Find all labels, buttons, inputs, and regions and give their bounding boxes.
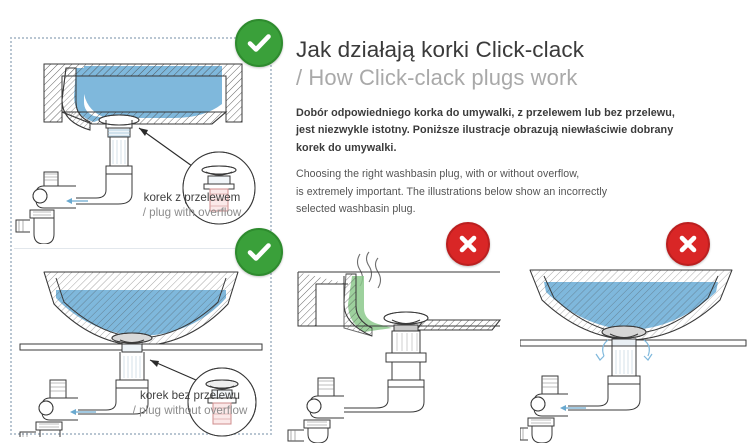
diagram-washbasin-with-overflow-wrong-plug <box>286 248 516 443</box>
cross-icon <box>676 232 700 256</box>
caption-plug-without-overflow: korek bez przelewu / plug without overfl… <box>104 389 276 419</box>
panel-divider <box>14 248 268 249</box>
diagram-vessel-basin-without-overflow-wrong-plug <box>520 248 748 443</box>
text-block: Jak działają korki Click-clack / How Cli… <box>296 36 742 218</box>
check-badge-with-overflow <box>235 19 283 67</box>
caption-1-pl: korek z przelewem <box>112 191 272 206</box>
paragraph-polish-line: Dobór odpowiedniego korka do umywalki, z… <box>296 105 742 122</box>
infographic-canvas: korek z przelewem / plug with overflow <box>0 0 750 445</box>
page-title-en: / How Click-clack plugs work <box>296 64 742 92</box>
check-icon <box>244 28 274 58</box>
cross-badge-bad-vessel <box>666 222 710 266</box>
page-title-pl: Jak działają korki Click-clack <box>296 36 742 63</box>
paragraph-english-line: Choosing the right washbasin plug, with … <box>296 166 742 183</box>
paragraph-english: Choosing the right washbasin plug, with … <box>296 166 742 217</box>
cross-badge-bad-overflow <box>446 222 490 266</box>
paragraph-polish-line: jest niezwykle istotny. Poniższe ilustra… <box>296 122 742 139</box>
caption-plug-with-overflow: korek z przelewem / plug with overflow <box>112 191 272 221</box>
paragraph-polish: Dobór odpowiedniego korka do umywalki, z… <box>296 105 742 157</box>
cross-icon <box>456 232 480 256</box>
paragraph-english-line: selected washbasin plug. <box>296 201 742 218</box>
caption-2-en: / plug without overflow <box>104 404 276 419</box>
paragraph-english-line: is extremely important. The illustration… <box>296 184 742 201</box>
caption-1-en: / plug with overflow <box>112 206 272 221</box>
check-icon <box>244 237 274 267</box>
paragraph-polish-line: korek do umywalki. <box>296 140 742 157</box>
check-badge-without-overflow <box>235 228 283 276</box>
caption-2-pl: korek bez przelewu <box>104 389 276 404</box>
